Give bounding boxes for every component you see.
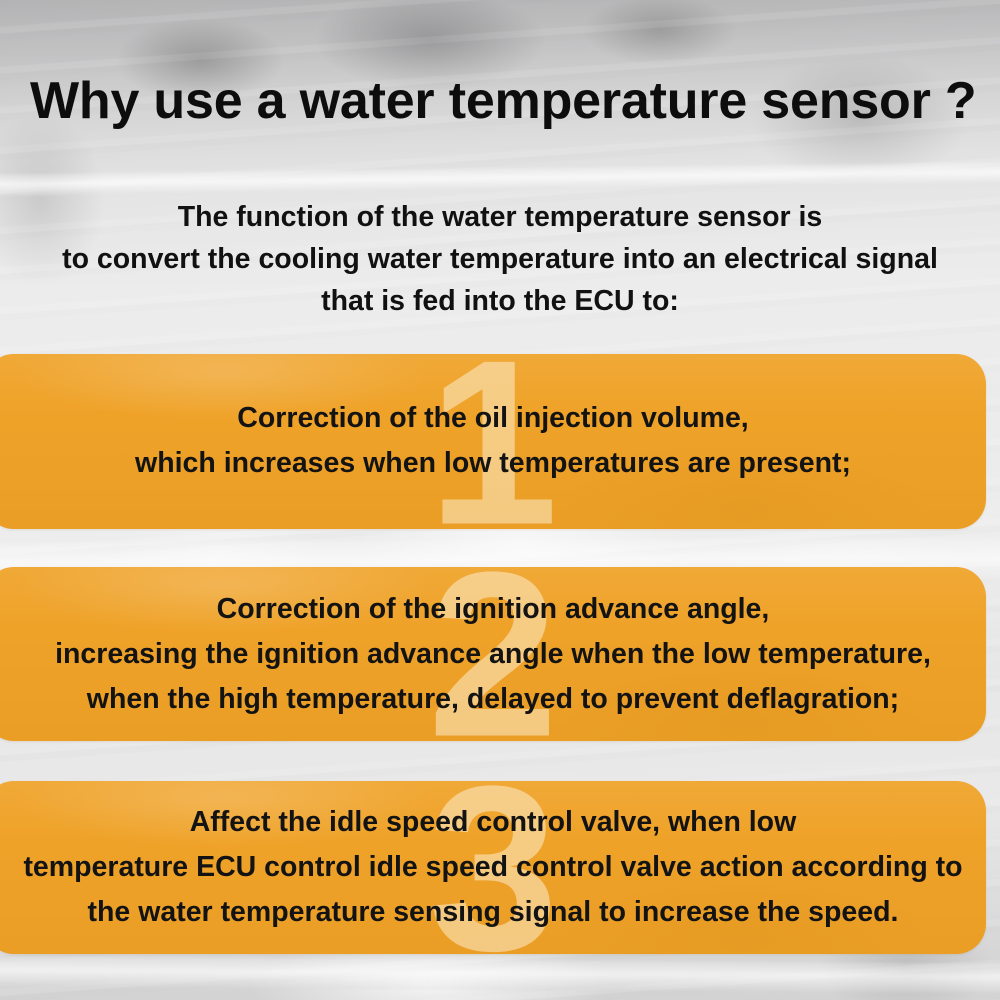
intro-line-2: to convert the cooling water temperature… bbox=[0, 238, 1000, 280]
page-title: Why use a water temperature sensor ? bbox=[30, 74, 976, 129]
reason-text-2: Correction of the ignition advance angle… bbox=[0, 567, 986, 722]
reason-text-1: Correction of the oil injection volume, … bbox=[0, 354, 986, 486]
reason-text-3: Affect the idle speed control valve, whe… bbox=[0, 781, 986, 935]
reason-2-line-1: Correction of the ignition advance angle… bbox=[0, 587, 986, 632]
reason-3-line-3: the water temperature sensing signal to … bbox=[0, 890, 986, 935]
infographic-poster: Why use a water temperature sensor ? The… bbox=[0, 0, 1000, 1000]
reason-band-1: 1 Correction of the oil injection volume… bbox=[0, 354, 986, 529]
intro-line-1: The function of the water temperature se… bbox=[0, 196, 1000, 238]
poster-content: Why use a water temperature sensor ? The… bbox=[0, 0, 1000, 1000]
reason-3-line-1: Affect the idle speed control valve, whe… bbox=[0, 800, 986, 845]
intro-paragraph: The function of the water temperature se… bbox=[0, 196, 1000, 322]
reason-2-line-3: when the high temperature, delayed to pr… bbox=[0, 677, 986, 722]
reason-1-line-2: which increases when low temperatures ar… bbox=[0, 441, 986, 486]
intro-line-3: that is fed into the ECU to: bbox=[0, 280, 1000, 322]
reason-2-line-2: increasing the ignition advance angle wh… bbox=[0, 632, 986, 677]
reason-1-line-1: Correction of the oil injection volume, bbox=[0, 396, 986, 441]
reason-band-3: 3 Affect the idle speed control valve, w… bbox=[0, 781, 986, 954]
reason-3-line-2: temperature ECU control idle speed contr… bbox=[0, 845, 986, 890]
reason-band-2: 2 Correction of the ignition advance ang… bbox=[0, 567, 986, 741]
